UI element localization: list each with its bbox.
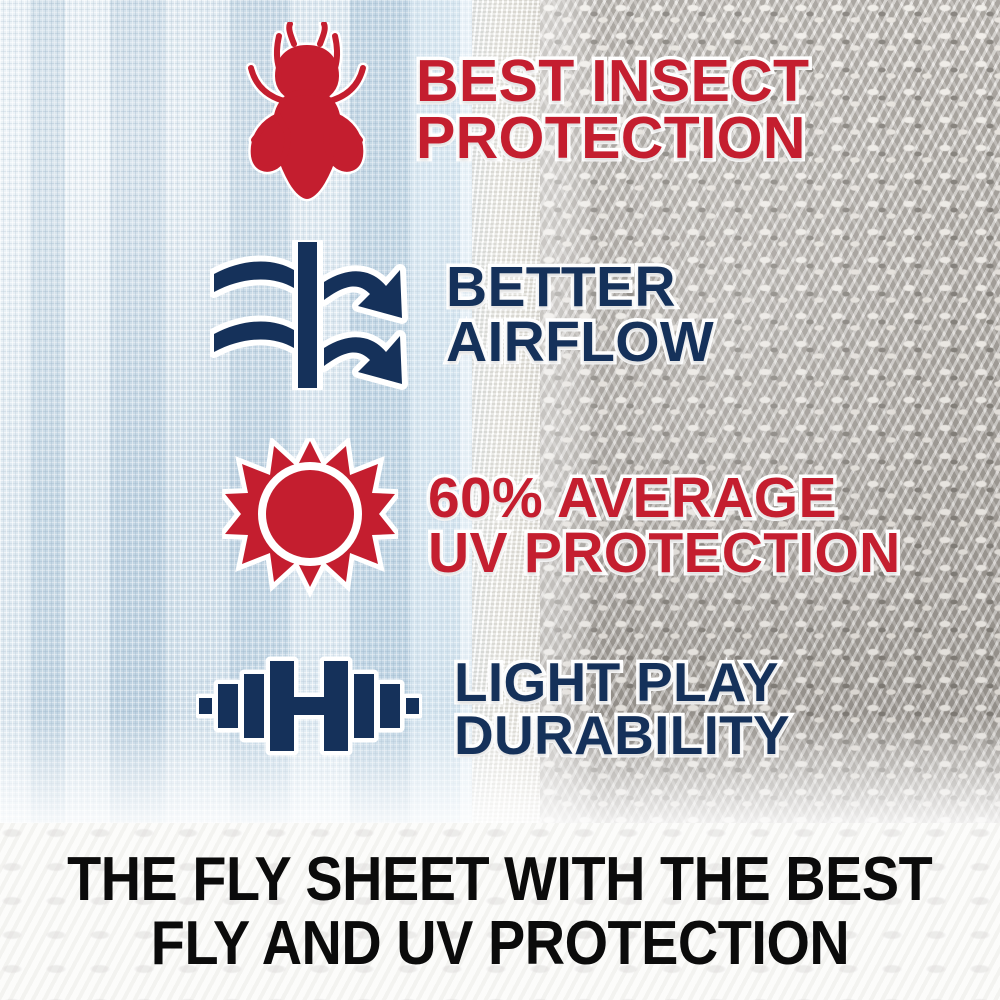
feature-row-uv-protection: 60% AVERAGE UV PROTECTION — [222, 438, 901, 614]
fly-icon — [232, 22, 382, 202]
feature-label-uv-protection: 60% AVERAGE UV PROTECTION — [428, 471, 901, 580]
feature-label-durability: LIGHT PLAY DURABILITY — [454, 656, 790, 762]
feature-row-durability: LIGHT PLAY DURABILITY — [196, 650, 790, 762]
dumbbell-icon — [196, 656, 422, 756]
infographic-canvas: BEST INSECT PROTECTION — [0, 0, 1000, 1000]
banner-headline-line-1: THE FLY SHEET WITH THE BEST — [67, 849, 932, 911]
airflow-icon — [210, 240, 410, 390]
feature-list: BEST INSECT PROTECTION — [0, 0, 1000, 823]
feature-row-airflow: BETTER AIRFLOW — [210, 240, 714, 390]
sun-icon — [222, 438, 398, 614]
feature-row-insect-protection: BEST INSECT PROTECTION — [232, 22, 809, 202]
feature-label-airflow: BETTER AIRFLOW — [446, 260, 714, 369]
banner-headline-line-2: FLY AND UV PROTECTION — [151, 913, 849, 975]
feature-label-insect-protection: BEST INSECT PROTECTION — [416, 53, 809, 166]
bottom-banner: THE FLY SHEET WITH THE BEST FLY AND UV P… — [0, 823, 1000, 1000]
